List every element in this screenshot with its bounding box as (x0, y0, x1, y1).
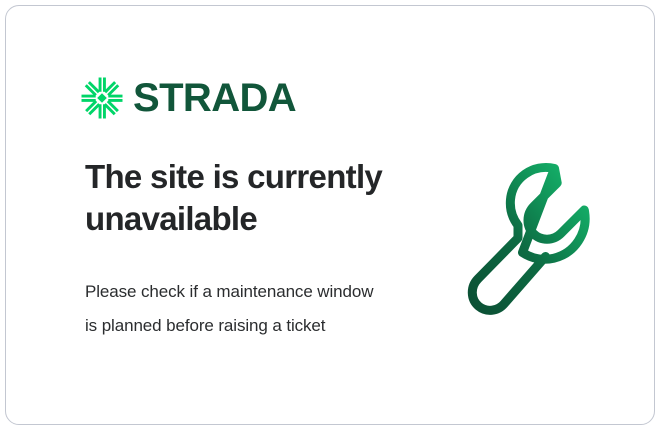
brand-lockup: STRADA (80, 76, 296, 120)
page-title: The site is currently unavailable (85, 156, 415, 239)
status-card: STRADA The site is currently unavailable… (5, 5, 655, 425)
page-description: Please check if a maintenance window is … (85, 239, 385, 343)
wrench-icon (458, 154, 620, 318)
strada-asterisk-icon (80, 76, 124, 120)
error-page: STRADA The site is currently unavailable… (0, 0, 666, 436)
message-block: The site is currently unavailable Please… (85, 156, 435, 343)
brand-wordmark: STRADA (133, 78, 296, 118)
